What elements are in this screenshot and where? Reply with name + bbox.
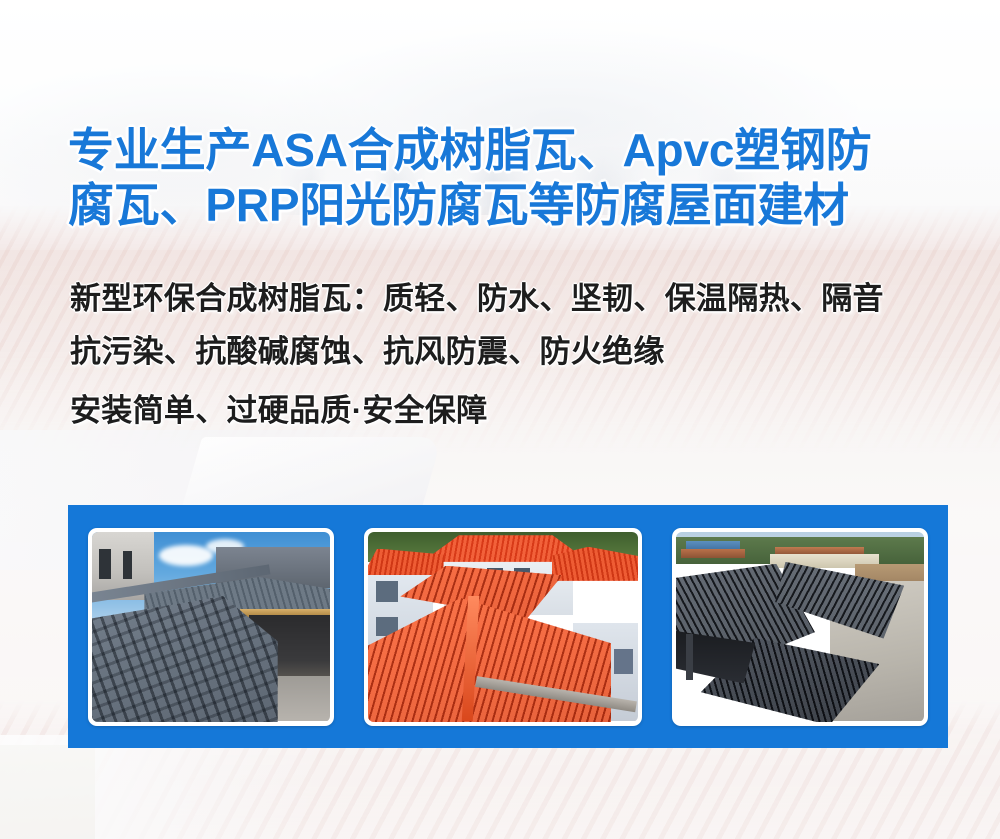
cloud-shape [159,545,214,566]
feature-list: 新型环保合成树脂瓦：质轻、防水、坚韧、保温隔热、隔音 抗污染、抗酸碱腐蚀、抗风防… [70,272,960,437]
photo-frame-1[interactable] [88,528,334,726]
red-resin-tile-roof-photo [368,532,638,722]
window-shape [99,549,111,579]
promo-banner: 专业生产ASA合成树脂瓦、Apvc塑钢防 腐瓦、PRP阳光防腐瓦等防腐屋面建材 … [0,0,1000,839]
village-roof-right [775,547,864,555]
window-shape [376,581,398,602]
window-shape [614,649,633,674]
feature-line-3: 安装简单、过硬品质·安全保障 [70,384,960,437]
village-roof-left [681,549,745,559]
photo-gallery-panel [68,505,948,748]
dark-resin-tile-roof-photo [676,532,924,722]
page-title: 专业生产ASA合成树脂瓦、Apvc塑钢防 腐瓦、PRP阳光防腐瓦等防腐屋面建材 [68,123,948,233]
photo-frame-2[interactable] [364,528,642,726]
grey-resin-tile-roof-photo [92,532,330,722]
window-shape [123,551,133,580]
feature-line-1: 新型环保合成树脂瓦：质轻、防水、坚韧、保温隔热、隔音 [70,272,960,325]
feature-line-2: 抗污染、抗酸碱腐蚀、抗风防震、防火绝缘 [70,325,960,378]
photo-frame-3[interactable] [672,528,928,726]
support-post [686,634,693,680]
